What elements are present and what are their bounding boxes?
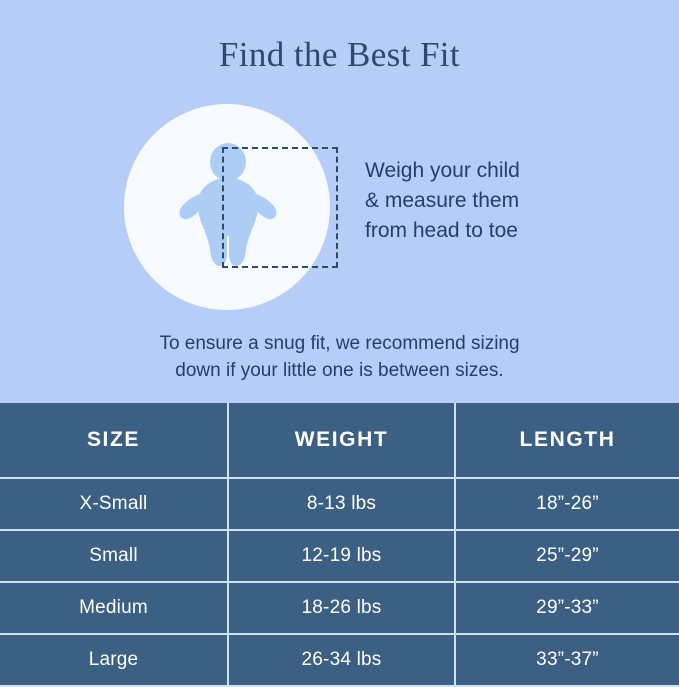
sizing-note-line-2: down if your little one is between sizes… (0, 357, 679, 384)
cell-weight: 18-26 lbs (228, 582, 455, 634)
cell-size: Large (0, 634, 228, 686)
intro-panel: Find the Best Fit (0, 0, 679, 403)
cell-size: Small (0, 530, 228, 582)
instruction-line-3: from head to toe (365, 216, 645, 246)
table-row: Medium 18-26 lbs 29”-33” (0, 582, 679, 634)
table-row: Small 12-19 lbs 25”-29” (0, 530, 679, 582)
cell-size: X-Small (0, 478, 228, 530)
cell-length: 33”-37” (455, 634, 679, 686)
table-header-row: SIZE WEIGHT LENGTH (0, 403, 679, 478)
cell-length: 29”-33” (455, 582, 679, 634)
instruction-text: Weigh your child & measure them from hea… (365, 156, 645, 246)
cell-weight: 8-13 lbs (228, 478, 455, 530)
measurement-dashed-box (222, 147, 338, 268)
sizing-note-line-1: To ensure a snug fit, we recommend sizin… (0, 330, 679, 357)
instruction-line-1: Weigh your child (365, 156, 645, 186)
cell-length: 18”-26” (455, 478, 679, 530)
sizing-note: To ensure a snug fit, we recommend sizin… (0, 330, 679, 384)
cell-weight: 26-34 lbs (228, 634, 455, 686)
table-row: Large 26-34 lbs 33”-37” (0, 634, 679, 686)
column-header-weight: WEIGHT (228, 403, 455, 478)
cell-length: 25”-29” (455, 530, 679, 582)
instruction-line-2: & measure them (365, 186, 645, 216)
illustration-row: Weigh your child & measure them from hea… (0, 104, 679, 310)
page-title: Find the Best Fit (0, 36, 679, 75)
cell-size: Medium (0, 582, 228, 634)
column-header-length: LENGTH (455, 403, 679, 478)
cell-weight: 12-19 lbs (228, 530, 455, 582)
column-header-size: SIZE (0, 403, 228, 478)
size-guide-infographic: Find the Best Fit (0, 0, 679, 679)
table-row: X-Small 8-13 lbs 18”-26” (0, 478, 679, 530)
size-chart-table: SIZE WEIGHT LENGTH X-Small 8-13 lbs 18”-… (0, 403, 679, 679)
